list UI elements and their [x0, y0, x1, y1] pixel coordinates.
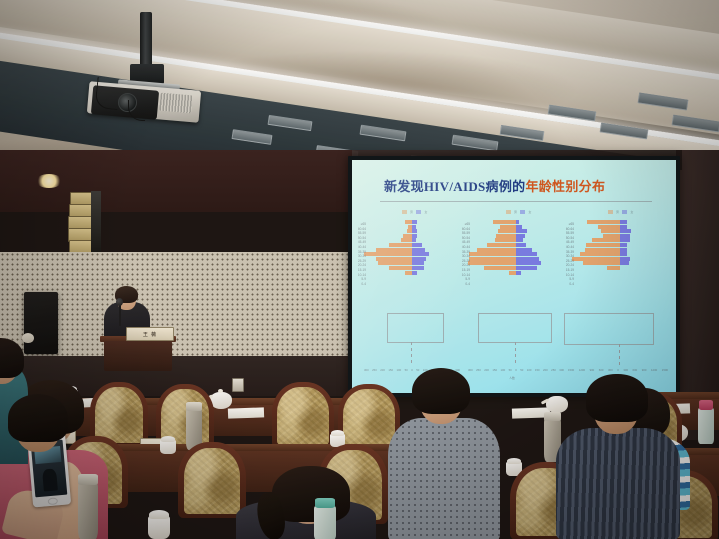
x-tick-label: 1500 [662, 368, 668, 372]
pyramid-row [360, 248, 464, 252]
bar-female [412, 238, 416, 242]
pyramid-row [568, 266, 672, 270]
pyramid-row [360, 261, 464, 265]
legend-label-female: 女 [424, 210, 427, 214]
x-tick-label: 150 [492, 368, 497, 372]
center-axis-left [411, 342, 412, 366]
legend-label-male: 男 [514, 210, 517, 214]
x-tick-label: 1200 [579, 368, 585, 372]
lectern[interactable] [104, 341, 172, 371]
bar-male [493, 220, 516, 224]
legend-swatch-female [622, 210, 627, 214]
teapot-knob [218, 389, 223, 393]
chart-pyramid-left[interactable]: 男 女 30025020015010050050100150200250300 [360, 210, 464, 385]
bar-female [412, 248, 425, 252]
teacup-2 [160, 440, 176, 454]
bar-female [412, 225, 416, 229]
bar-female [620, 248, 627, 252]
x-tick-label: 600 [599, 368, 604, 372]
bar-male [583, 261, 620, 265]
x-tick-label: 200 [484, 368, 489, 372]
water-bottle-right [698, 408, 714, 444]
x-tick-label: 50 [520, 368, 523, 372]
pyramid-row [568, 257, 672, 261]
pyramid-row [360, 229, 464, 233]
bar-male [586, 243, 620, 247]
bar-female [516, 234, 525, 238]
x-tick-label: 150 [388, 368, 393, 372]
center-axis-middle [515, 342, 516, 366]
legend-label-male: 男 [410, 210, 413, 214]
bar-female [516, 243, 526, 247]
x-tick-label: 150 [535, 368, 540, 372]
bar-male [500, 225, 516, 229]
pyramid-row [360, 234, 464, 238]
bar-female [620, 257, 630, 261]
bar-female [412, 271, 417, 275]
bar-male [401, 238, 412, 242]
bar-male [389, 266, 412, 270]
bar-male [587, 220, 620, 224]
x-tick-label: 600 [633, 368, 638, 372]
bar-male [598, 225, 620, 229]
x-tick-label: 250 [551, 368, 556, 372]
thermos-cap-right [544, 412, 561, 421]
x-tick-label: 0 [617, 368, 619, 372]
x-axis-caption-middle: 人数 [482, 376, 542, 380]
x-tick-label: 50 [416, 368, 419, 372]
floor-speaker [24, 292, 58, 354]
bar-female [620, 252, 627, 256]
bar-female [516, 229, 527, 233]
legend-right-chart: 男 女 [608, 210, 634, 214]
bar-male [601, 229, 620, 233]
bar-female [412, 266, 424, 270]
teacup-lid-front [149, 510, 169, 519]
teapot-back-right [546, 396, 568, 413]
x-tick-label: 0 [515, 368, 517, 372]
bar-male [496, 234, 516, 238]
bar-female [412, 257, 426, 261]
bar-male [376, 257, 412, 261]
bar-male [607, 266, 620, 270]
x-tick-label: 1200 [651, 368, 657, 372]
pyramid-row [464, 243, 568, 247]
legend-label-female: 女 [528, 210, 531, 214]
pyramid-row [464, 234, 568, 238]
conference-room-photo: 新发现HIV/AIDS病例的年龄性别分布 男 女 300250200150100… [0, 0, 719, 539]
x-tick-label: 300 [608, 368, 613, 372]
bar-male [585, 248, 620, 252]
bar-female [516, 261, 541, 265]
pyramid-row [464, 271, 568, 275]
x-tick-label: 250 [476, 368, 481, 372]
y-tick-label: 0-4 [562, 282, 574, 287]
teacup-lid-3 [331, 430, 344, 436]
title-divider [380, 201, 652, 202]
bar-female [412, 229, 417, 233]
pyramid-row [360, 271, 464, 275]
pyramid-row [568, 225, 672, 229]
x-tick-label: 100 [527, 368, 532, 372]
legend-swatch-female [520, 210, 525, 214]
thermos-cap-mid [186, 402, 202, 411]
bar-male [572, 257, 620, 261]
highlight-box-middle [478, 313, 552, 343]
x-tick-label: 200 [380, 368, 385, 372]
slide-title-part1: 新发现HIV/AIDS病例的 [384, 179, 525, 194]
x-tick-label: 900 [590, 368, 595, 372]
pyramid-row [464, 238, 568, 242]
downlight [36, 174, 62, 188]
bar-female [620, 261, 629, 265]
pyramid-row [568, 220, 672, 224]
bar-male [498, 229, 516, 233]
y-tick-label: 0-4 [458, 282, 470, 287]
bar-male [509, 271, 516, 275]
bar-female [620, 229, 631, 233]
bar-male [580, 252, 620, 256]
bar-female [516, 220, 519, 224]
bar-female [620, 220, 627, 224]
pyramid-row [568, 248, 672, 252]
bar-male [469, 252, 516, 256]
bar-male [469, 257, 516, 261]
pyramid-row [360, 238, 464, 242]
pyramid-row [568, 238, 672, 242]
pyramid-row [360, 280, 464, 284]
thermos-front-left [78, 482, 98, 539]
teacup-front [148, 516, 170, 539]
y-axis-labels-right: ≥6560-6455-5950-5445-4940-4435-3930-3425… [562, 222, 574, 286]
slide-title-part2: 年龄性别分布 [525, 179, 605, 194]
highlight-box-left [387, 313, 444, 343]
y-axis-labels-left: ≥6560-6455-5950-5445-4940-4435-3930-3425… [354, 222, 366, 286]
bottle-cap-right [699, 400, 713, 410]
bar-female [620, 225, 627, 229]
x-tick-label: 300 [559, 368, 564, 372]
pyramid-row [360, 257, 464, 261]
x-tick-label: 250 [372, 368, 377, 372]
projection-screen[interactable]: 新发现HIV/AIDS病例的年龄性别分布 男 女 300250200150100… [352, 160, 676, 393]
x-tick-label: 1500 [568, 368, 574, 372]
bar-female [412, 243, 422, 247]
x-tick-label: 300 [364, 368, 369, 372]
pyramid-row [568, 252, 672, 256]
podium-cup [22, 333, 34, 343]
pyramid-row [360, 266, 464, 270]
bar-male [405, 220, 412, 224]
legend-left-chart: 男 女 [402, 210, 428, 214]
legend-label-male: 男 [616, 210, 619, 214]
bar-female [516, 252, 537, 256]
legend-label-female: 女 [630, 210, 633, 214]
bar-male [477, 248, 516, 252]
bar-female [620, 238, 630, 242]
x-tick-label: 100 [397, 368, 402, 372]
bar-female [412, 252, 429, 256]
bar-female [516, 225, 522, 229]
bar-male [405, 271, 412, 275]
bar-female [516, 271, 521, 275]
pyramid-row [360, 220, 464, 224]
teacup-lid-2 [161, 436, 175, 442]
bottle-cap-front [315, 498, 335, 508]
chair-back-3[interactable] [272, 382, 334, 448]
pyramid-row [360, 243, 464, 247]
handout-paper-2 [228, 407, 264, 418]
bar-female [516, 248, 532, 252]
legend-swatch-male [608, 210, 613, 214]
x-tick-label: 300 [468, 368, 473, 372]
bar-male [484, 266, 516, 270]
bar-male [487, 243, 516, 247]
bar-female [516, 238, 523, 242]
bar-male [468, 261, 516, 265]
legend-swatch-male [402, 210, 407, 214]
bar-female [516, 257, 539, 261]
highlight-box-right [564, 313, 654, 345]
pyramid-row [464, 220, 568, 224]
chart-pyramid-right[interactable]: 男 女 15001200900600300030060090012001500 [568, 210, 672, 385]
bar-male [376, 248, 412, 252]
x-axis-right: 15001200900600300030060090012001500 [568, 368, 668, 372]
y-axis-labels-middle: ≥6560-6455-5950-5445-4940-4435-3930-3425… [458, 222, 470, 286]
bar-female [412, 220, 417, 224]
bar-male [403, 234, 412, 238]
bar-male [495, 238, 516, 242]
pyramid-row [360, 225, 464, 229]
pyramid-row [464, 275, 568, 279]
pyramid-row [464, 248, 568, 252]
pyramid-row [464, 229, 568, 233]
pyramid-row [568, 234, 672, 238]
bar-female [620, 243, 627, 247]
pyramid-row [464, 225, 568, 229]
pyramid-row [464, 261, 568, 265]
pyramid-row [568, 243, 672, 247]
wall-outlet-mid [232, 378, 244, 392]
x-tick-label: 50 [509, 368, 512, 372]
y-tick-label: 0-4 [354, 282, 366, 287]
pyramid-row [568, 275, 672, 279]
bar-female [412, 234, 417, 238]
x-tick-label: 100 [501, 368, 506, 372]
thermos-cap-front-left [78, 474, 98, 485]
pyramid-row [568, 271, 672, 275]
x-tick-label: 0 [411, 368, 413, 372]
x-tick-label: 900 [642, 368, 647, 372]
x-tick-label: 50 [405, 368, 408, 372]
name-placard: 王 薇 [126, 327, 174, 341]
water-bottle-front [314, 506, 336, 539]
pyramid-row [464, 266, 568, 270]
x-tick-label: 200 [543, 368, 548, 372]
phone-home-button[interactable] [48, 497, 59, 505]
legend-middle-chart: 男 女 [506, 210, 532, 214]
pyramid-row [568, 280, 672, 284]
pyramid-row [464, 280, 568, 284]
chart-pyramid-middle[interactable]: 男 女 30025020015010050050100150200250300 [464, 210, 568, 385]
microphone [116, 298, 123, 306]
pyramid-row [568, 229, 672, 233]
center-axis-right [619, 344, 620, 366]
pyramid-row [464, 257, 568, 261]
bar-male [592, 238, 620, 242]
bar-female [620, 234, 630, 238]
bar-male [378, 261, 412, 265]
legend-swatch-male [506, 210, 511, 214]
bar-male [389, 243, 412, 247]
pyramid-row [464, 252, 568, 256]
legend-swatch-female [416, 210, 421, 214]
x-tick-label: 300 [623, 368, 628, 372]
pyramid-row [360, 275, 464, 279]
name-placard-text: 王 薇 [143, 331, 157, 338]
bar-female [516, 266, 537, 270]
x-axis-middle: 30025020015010050050100150200250300 [468, 368, 564, 372]
bar-male [364, 252, 412, 256]
pyramid-row [568, 261, 672, 265]
slide-title: 新发现HIV/AIDS病例的年龄性别分布 [384, 176, 605, 195]
chair-front-2[interactable] [178, 442, 246, 518]
bar-female [412, 261, 424, 265]
pyramid-row [360, 252, 464, 256]
bar-male [603, 234, 620, 238]
